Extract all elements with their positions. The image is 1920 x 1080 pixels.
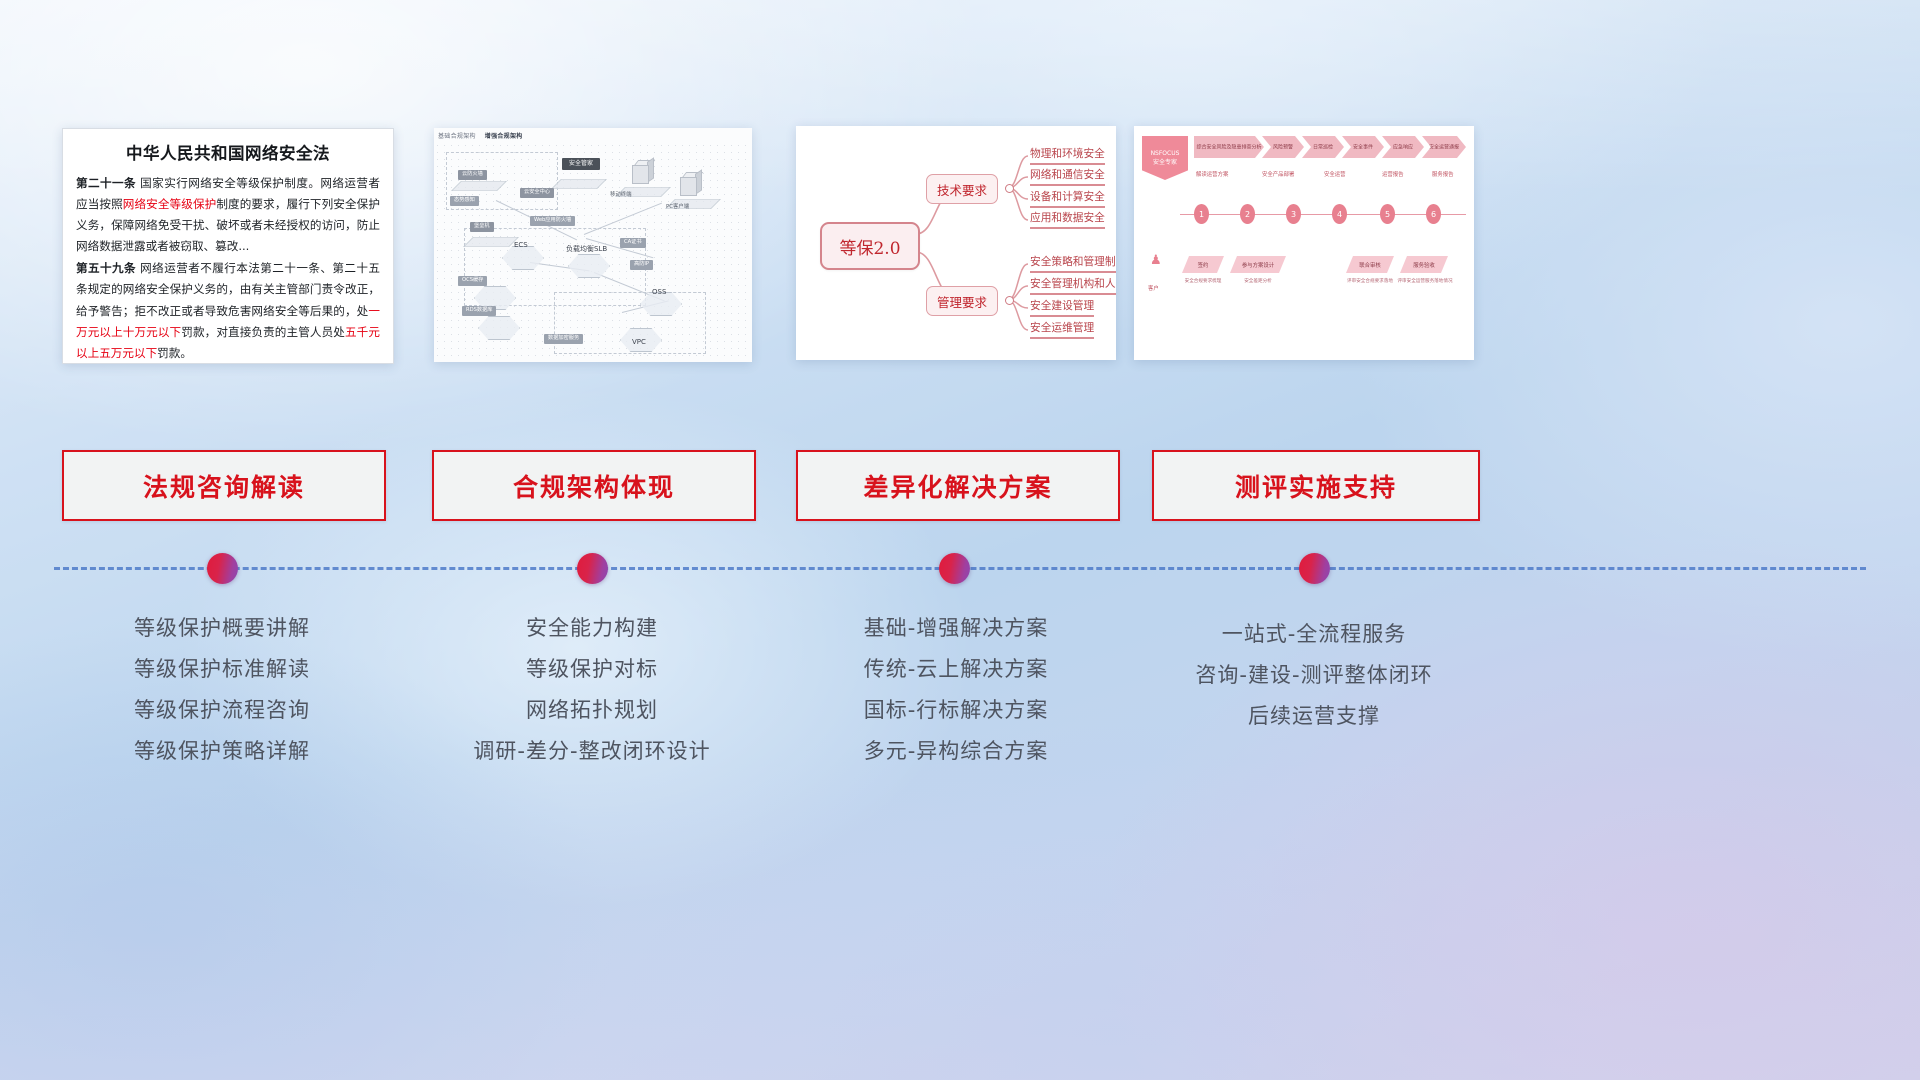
nsfocus-client-label: 客户: [1148, 284, 1159, 292]
nsfocus-chevron-3: 安全事件: [1342, 136, 1384, 158]
arch-tag-bastion: 堡垒机: [470, 222, 494, 232]
arch-tag-rds: RDS数据库: [462, 306, 496, 316]
mindmap-leaf-construction: 安全建设管理: [1030, 298, 1094, 317]
nsfocus-cap-3: 评审安全运营服务落地情况: [1392, 278, 1458, 284]
timeline-dot-3[interactable]: [939, 553, 970, 584]
title-box-regulation-consulting[interactable]: 法规咨询解读: [62, 450, 386, 521]
architecture-tab-1[interactable]: 增强合规架构: [485, 134, 523, 140]
architecture-tab-0[interactable]: 基础合规架构: [438, 134, 476, 140]
column-regulation-consulting: 等级保护概要讲解 等级保护标准解读 等级保护流程咨询 等级保护策略详解: [62, 608, 382, 772]
nsfocus-band-0-label: 签约: [1182, 256, 1224, 273]
title-box-compliance-architecture[interactable]: 合规架构体现: [432, 450, 756, 521]
nsfocus-cap-1: 安全差距分析: [1226, 278, 1290, 284]
arch-label-ecs: ECS: [514, 241, 528, 249]
nsfocus-band-1-label: 参与方案设计: [1230, 256, 1286, 273]
mindmap-leaf-device: 设备和计算安全: [1030, 189, 1105, 208]
arch-tag-sa: 态势感知: [450, 196, 479, 206]
list-item: 传统-云上解决方案: [796, 649, 1116, 690]
list-item: 安全能力构建: [432, 608, 752, 649]
nsfocus-step-6: 6: [1426, 204, 1441, 224]
card-cybersecurity-law: 中华人民共和国网络安全法 第二十一条 国家实行网络安全等级保护制度。网络运营者应…: [62, 128, 394, 364]
arch-plate-2: [551, 179, 607, 189]
title-box-compliance-architecture-label: 合规架构体现: [513, 468, 675, 504]
arch-tag-ca: CA证书: [620, 238, 646, 248]
title-box-evaluation-support-label: 测评实施支持: [1235, 468, 1397, 504]
nsfocus-chevron-3-label: 安全事件: [1342, 144, 1384, 151]
list-item: 国标-行标解决方案: [796, 690, 1116, 731]
card-architecture-diagram: 基础合规架构 增强合规架构 云防火墙 态势感知: [434, 128, 752, 362]
law-article-59: 第五十九条 网络运营者不履行本法第二十一条、第二十五条规定的网络安全保护义务的，…: [76, 258, 380, 363]
title-box-evaluation-support[interactable]: 测评实施支持: [1152, 450, 1480, 521]
nsfocus-axis-line: [1180, 214, 1466, 215]
nsfocus-brand-badge: NSFOCUS 安全专家: [1142, 136, 1188, 180]
list-item: 一站式-全流程服务: [1152, 614, 1476, 655]
nsfocus-sub-4: 服务报告: [1432, 170, 1454, 178]
title-box-differentiated-solution[interactable]: 差异化解决方案: [796, 450, 1120, 521]
nsfocus-cap-0: 安全合规要求梳理: [1172, 278, 1234, 284]
nsfocus-band-2-label: 联合审核: [1346, 256, 1394, 273]
title-box-regulation-consulting-label: 法规咨询解读: [143, 468, 305, 504]
nsfocus-chevron-4-label: 应急响应: [1382, 144, 1424, 151]
law-article-59-text-b: 罚款，对直接负责的主管人员处: [181, 325, 345, 339]
column-compliance-architecture: 安全能力构建 等级保护对标 网络拓扑规划 调研-差分-整改闭环设计: [432, 608, 752, 772]
mindmap-leaf-org: 安全管理机构和人员: [1030, 276, 1116, 295]
mindmap-collapse-dot-technical[interactable]: [1005, 184, 1014, 193]
nsfocus-step-3: 3: [1286, 204, 1301, 224]
nsfocus-chevron-4: 应急响应: [1382, 136, 1424, 158]
nsfocus-chevron-5-label: 安全运营通报: [1422, 144, 1466, 151]
nsfocus-sub-2: 安全运营: [1324, 170, 1346, 178]
arch-label-mobile: 移动终端: [610, 190, 632, 198]
nsfocus-chevron-0: 综合安全风险及隐患排查分析: [1194, 136, 1264, 158]
nsfocus-band-3-label: 服务验收: [1400, 256, 1448, 273]
arch-box-pc: [630, 158, 652, 184]
arch-tag-ocs: OCS缓存: [458, 276, 487, 286]
arch-label-oss: OSS: [652, 288, 666, 296]
list-item: 调研-差分-整改闭环设计: [432, 731, 752, 772]
mindmap-leaf-application: 应用和数据安全: [1030, 210, 1105, 229]
nsfocus-band-1: 参与方案设计: [1230, 256, 1286, 273]
nsfocus-chevron-5: 安全运营通报: [1422, 136, 1466, 158]
mindmap-branch-technical[interactable]: 技术要求: [926, 174, 998, 204]
mindmap-leaf-operations: 安全运维管理: [1030, 320, 1094, 339]
nsfocus-step-5: 5: [1380, 204, 1395, 224]
column-differentiated-solution: 基础-增强解决方案 传统-云上解决方案 国标-行标解决方案 多元-异构综合方案: [796, 608, 1116, 772]
nsfocus-sub-0: 解读运营方案: [1196, 170, 1228, 178]
arch-tag-ddos: 高防IP: [630, 260, 653, 270]
architecture-canvas: 基础合规架构 增强合规架构 云防火墙 态势感知: [434, 128, 752, 362]
law-article-21-label: 第二十一条: [76, 176, 136, 190]
arch-label-slb: 负载均衡SLB: [566, 244, 607, 254]
nsfocus-band-2: 联合审核: [1346, 256, 1394, 273]
architecture-tabs: 基础合规架构 增强合规架构: [438, 131, 530, 140]
mindmap-leaf-physical: 物理和环境安全: [1030, 146, 1105, 165]
nsfocus-sub-1: 安全产品部署: [1262, 170, 1294, 178]
arch-tag-security-manager: 安全管家: [562, 158, 600, 170]
list-item: 网络拓扑规划: [432, 690, 752, 731]
timeline-dot-1[interactable]: [207, 553, 238, 584]
law-article-21: 第二十一条 国家实行网络安全等级保护制度。网络运营者应当按照网络安全等级保护制度…: [76, 173, 380, 257]
mindmap-canvas: 等保2.0 技术要求 管理要求 物理和环境安全 网络和通信安全 设备和计算安全 …: [796, 126, 1116, 360]
architecture-grid: 云防火墙 态势感知 安全管家 云安全中心 移动终端 PC客户端 Web应用: [434, 142, 752, 362]
list-item: 基础-增强解决方案: [796, 608, 1116, 649]
mindmap-branch-management[interactable]: 管理要求: [926, 286, 998, 316]
title-box-differentiated-solution-label: 差异化解决方案: [863, 468, 1052, 504]
law-article-59-label: 第五十九条: [76, 261, 136, 275]
arch-tag-cloudsec: 云安全中心: [520, 188, 554, 198]
list-item: 后续运营支撑: [1152, 696, 1476, 737]
nsfocus-chevron-1-label: 风险预警: [1262, 144, 1304, 151]
arch-box-pc2: [678, 170, 700, 196]
nsfocus-band-0: 签约: [1182, 256, 1224, 273]
column-evaluation-support: 一站式-全流程服务 咨询-建设-测评整体闭环 后续运营支撑: [1152, 614, 1476, 737]
timeline-dot-4[interactable]: [1299, 553, 1330, 584]
mindmap-leaf-network: 网络和通信安全: [1030, 167, 1105, 186]
law-article-59-text-c: 罚款。: [157, 346, 192, 360]
list-item: 等级保护概要讲解: [62, 608, 382, 649]
nsfocus-chevron-2-label: 日常巡检: [1302, 144, 1344, 151]
arch-label-pc: PC客户端: [666, 202, 689, 210]
arch-hex-rds: [478, 316, 520, 340]
list-item: 咨询-建设-测评整体闭环: [1152, 655, 1476, 696]
law-document: 中华人民共和国网络安全法 第二十一条 国家实行网络安全等级保护制度。网络运营者应…: [63, 129, 393, 363]
nsfocus-step-1: 1: [1194, 204, 1209, 224]
nsfocus-chevron-1: 风险预警: [1262, 136, 1304, 158]
arch-tag-encrypt: 数据加密服务: [544, 334, 583, 344]
nsfocus-brand-name: NSFOCUS: [1151, 149, 1180, 158]
nsfocus-chevron-0-label: 综合安全风险及隐患排查分析: [1194, 144, 1264, 151]
list-item: 等级保护标准解读: [62, 649, 382, 690]
arch-label-vpc: VPC: [632, 338, 646, 346]
card-nsfocus-timeline: NSFOCUS 安全专家 综合安全风险及隐患排查分析 风险预警 日常巡检 安全事…: [1134, 126, 1474, 360]
nsfocus-step-2: 2: [1240, 204, 1255, 224]
arch-tag-fw: 云防火墙: [458, 170, 487, 180]
list-item: 等级保护对标: [432, 649, 752, 690]
list-item: 等级保护流程咨询: [62, 690, 382, 731]
list-item: 多元-异构综合方案: [796, 731, 1116, 772]
timeline-dot-2[interactable]: [577, 553, 608, 584]
mindmap-root-node[interactable]: 等保2.0: [820, 222, 920, 270]
nsfocus-client-icon: ♟: [1150, 252, 1162, 268]
nsfocus-chevron-2: 日常巡检: [1302, 136, 1344, 158]
mindmap-leaf-policy: 安全策略和管理制度: [1030, 254, 1116, 273]
law-title: 中华人民共和国网络安全法: [76, 140, 380, 164]
nsfocus-brand-sub: 安全专家: [1153, 158, 1177, 167]
nsfocus-step-4: 4: [1332, 204, 1347, 224]
timeline: [54, 567, 1866, 570]
arch-tag-waf: Web应用防火墙: [530, 216, 575, 226]
nsfocus-sub-3: 运营报告: [1382, 170, 1404, 178]
mindmap-collapse-dot-management[interactable]: [1005, 296, 1014, 305]
card-mindmap: 等保2.0 技术要求 管理要求 物理和环境安全 网络和通信安全 设备和计算安全 …: [796, 126, 1116, 360]
law-article-21-highlight: 网络安全等级保护: [123, 197, 217, 211]
list-item: 等级保护策略详解: [62, 731, 382, 772]
nsfocus-band-3: 服务验收: [1400, 256, 1448, 273]
nsfocus-canvas: NSFOCUS 安全专家 综合安全风险及隐患排查分析 风险预警 日常巡检 安全事…: [1134, 126, 1474, 360]
